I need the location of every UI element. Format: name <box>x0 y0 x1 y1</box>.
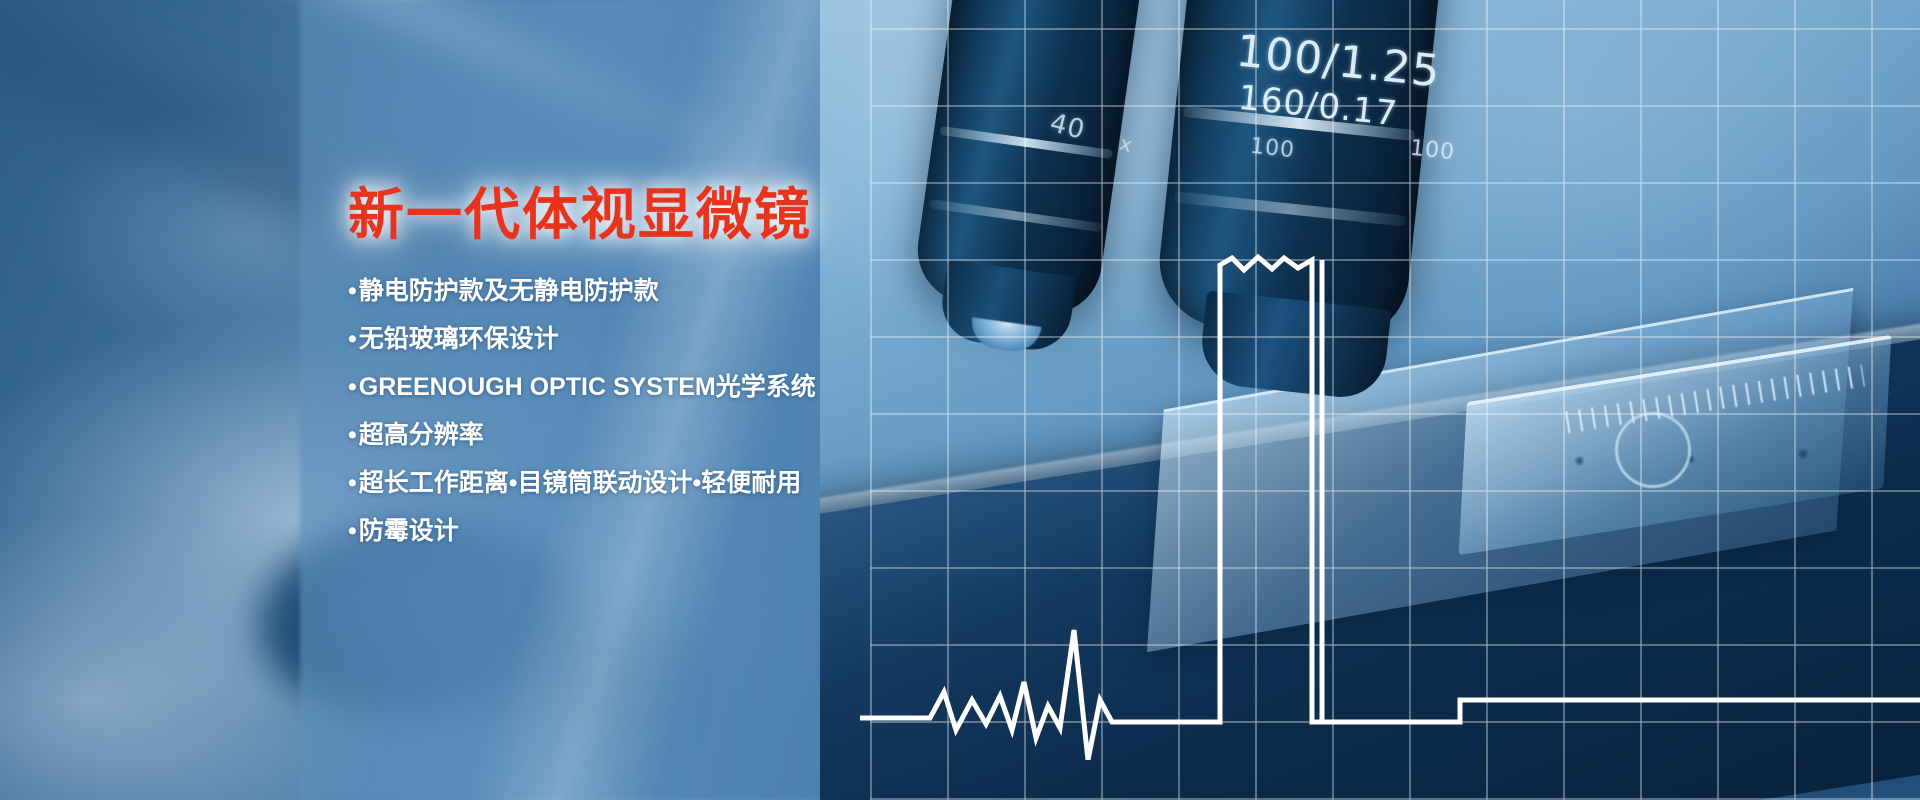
list-item-label: GREENOUGH OPTIC SYSTEM光学系统 <box>359 373 816 401</box>
objective-band-a1 <box>939 126 1112 159</box>
bullet-icon: • <box>348 517 357 545</box>
list-item-label: 无铅玻璃环保设计 <box>359 325 559 353</box>
list-item: •超长工作距离•目镜筒联动设计•轻便耐用 <box>348 471 968 496</box>
bullet-icon: • <box>348 277 357 305</box>
hero-text-block: 新一代体视显微镜 •静电防护款及无静电防护款 •无铅玻璃环保设计 •GREENO… <box>348 186 968 567</box>
objective-label-100-left: 100 <box>1249 134 1296 164</box>
bullet-icon: • <box>348 325 357 353</box>
objective-label-100-right: 100 <box>1409 136 1456 166</box>
list-item: •GREENOUGH OPTIC SYSTEM光学系统 <box>348 375 968 400</box>
list-item: •无铅玻璃环保设计 <box>348 327 968 352</box>
feature-list: •静电防护款及无静电防护款 •无铅玻璃环保设计 •GREENOUGH OPTIC… <box>348 279 968 544</box>
bullet-icon: • <box>348 469 357 497</box>
list-item: •静电防护款及无静电防护款 <box>348 279 968 304</box>
page-title: 新一代体视显微镜 <box>348 186 968 245</box>
objective-band-b2 <box>1174 191 1406 226</box>
list-item-label: 超长工作距离•目镜筒联动设计•轻便耐用 <box>359 469 802 497</box>
bullet-icon: • <box>348 421 357 449</box>
list-item: •防霉设计 <box>348 519 968 544</box>
list-item-label: 静电防护款及无静电防护款 <box>359 277 659 305</box>
list-item: •超高分辨率 <box>348 423 968 448</box>
product-hero-banner: 100/1.25 160/0.17 40 x 100 100 新一代体视显微镜 … <box>0 0 1920 800</box>
microscope-photo: 100/1.25 160/0.17 40 x 100 100 <box>820 0 1920 800</box>
bullet-icon: • <box>348 373 357 401</box>
list-item-label: 超高分辨率 <box>359 421 484 449</box>
list-item-label: 防霉设计 <box>359 517 459 545</box>
